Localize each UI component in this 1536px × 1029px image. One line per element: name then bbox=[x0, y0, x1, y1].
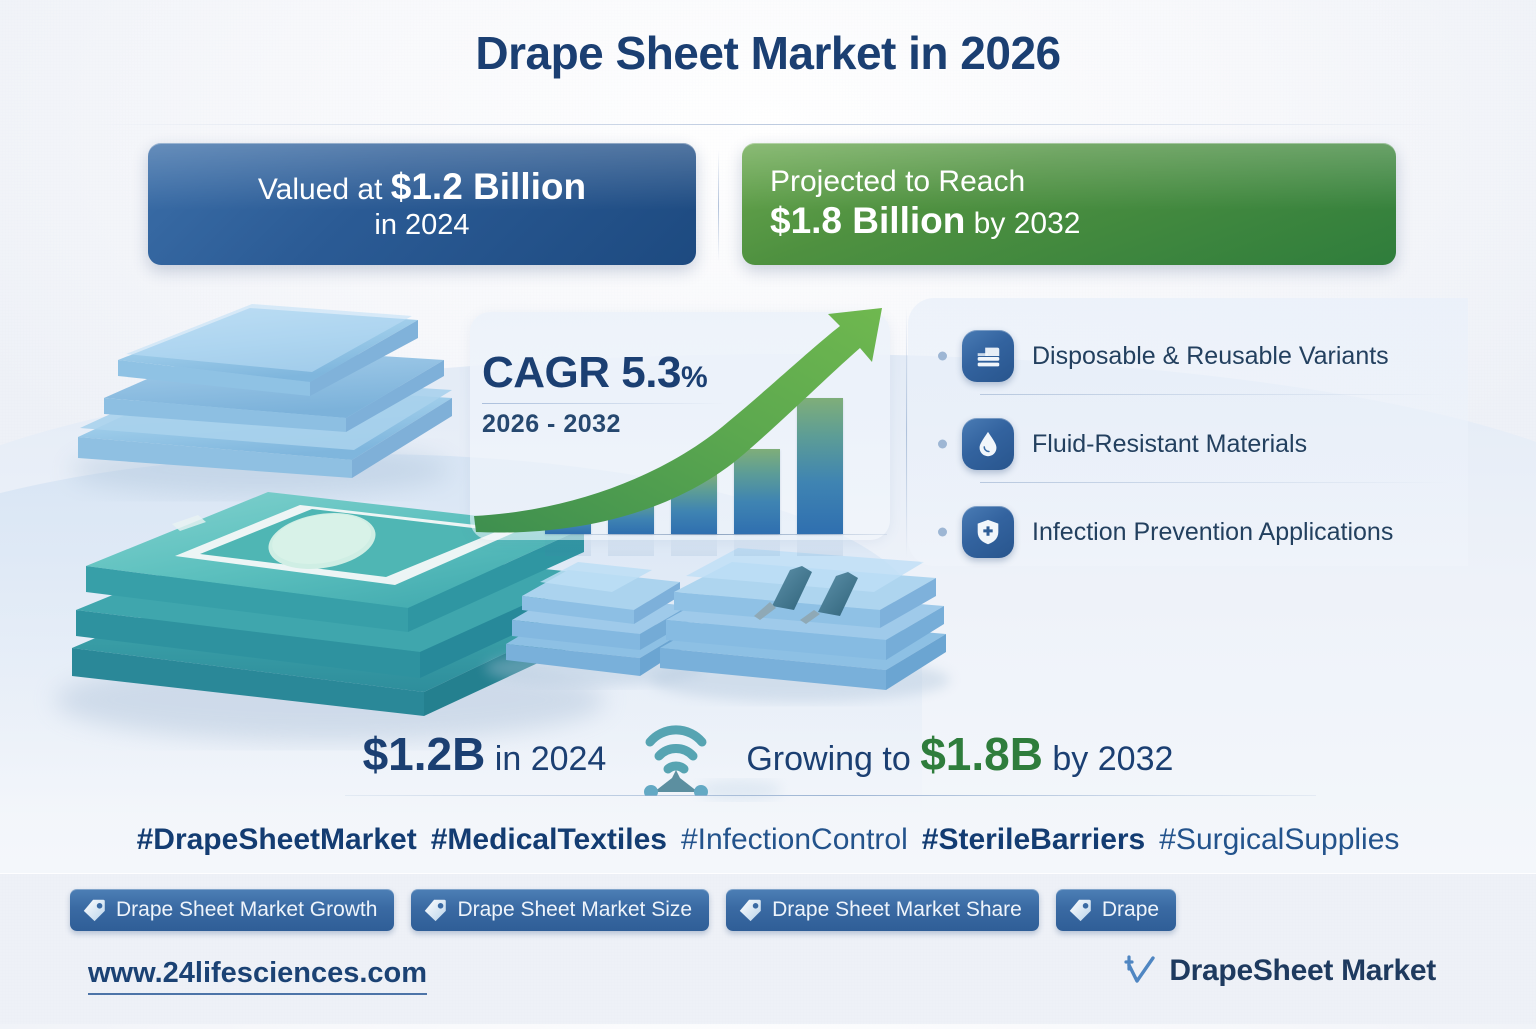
tag-icon bbox=[81, 897, 107, 923]
keyword-pill-label: Drape Sheet Market Share bbox=[772, 898, 1022, 922]
stat-card-projection: Projected to Reach $1.8 Billion by 2032 bbox=[742, 143, 1396, 265]
tag-icon bbox=[422, 897, 448, 923]
keyword-pill-row: Drape Sheet Market GrowthDrape Sheet Mar… bbox=[70, 888, 1470, 932]
growth-summary-row: $1.2B in 2024 Growing to $1.8B by 2032 bbox=[0, 712, 1536, 796]
brand-name: DrapeSheet Market bbox=[1169, 954, 1436, 988]
valuation-headline: Valued at $1.2 Billion bbox=[176, 166, 668, 209]
projection-year: by 2032 bbox=[965, 207, 1080, 240]
hashtag[interactable]: #DrapeSheetMarket bbox=[137, 823, 417, 856]
hashtag[interactable]: #SterileBarriers bbox=[922, 823, 1145, 856]
hashtag[interactable]: #InfectionControl bbox=[681, 823, 908, 856]
hashtag[interactable]: #SurgicalSupplies bbox=[1159, 823, 1399, 856]
valuation-amount: $1.2 Billion bbox=[391, 166, 586, 207]
valuation-year: in 2024 bbox=[176, 209, 668, 243]
keyword-pill[interactable]: Drape Sheet Market Growth bbox=[70, 889, 394, 931]
growth-amount-end: $1.8B bbox=[920, 728, 1043, 780]
card-divider bbox=[718, 150, 719, 262]
feature-item-fluid-resistant[interactable]: Fluid-Resistant Materials bbox=[962, 418, 1462, 470]
keyword-pill-label: Drape Sheet Market Size bbox=[457, 898, 692, 922]
feature-label: Fluid-Resistant Materials bbox=[1032, 430, 1307, 459]
stacked-sheets-icon bbox=[962, 330, 1014, 382]
keyword-pill[interactable]: Drape Sheet Market Share bbox=[726, 889, 1039, 931]
chart-bar bbox=[545, 510, 591, 534]
chart-bar bbox=[608, 493, 654, 534]
feature-item-disposable-reusable[interactable]: Disposable & Reusable Variants bbox=[962, 330, 1462, 382]
feature-label: Disposable & Reusable Variants bbox=[1032, 342, 1389, 371]
feature-divider bbox=[980, 394, 1450, 395]
growth-start-value: $1.2B in 2024 bbox=[363, 727, 607, 781]
chart-bar bbox=[797, 398, 843, 534]
projection-amount: $1.8 Billion bbox=[770, 200, 965, 241]
brand-logo: DrapeSheet Market bbox=[1122, 953, 1436, 989]
features-vertical-divider bbox=[906, 306, 907, 558]
website-url-link[interactable]: www.24lifesciences.com bbox=[88, 957, 427, 995]
header-divider bbox=[90, 124, 1446, 125]
growth-divider bbox=[345, 795, 1316, 796]
stat-card-valuation: Valued at $1.2 Billion in 2024 bbox=[148, 143, 696, 265]
projection-value-row: $1.8 Billion by 2032 bbox=[770, 200, 1368, 243]
feature-label: Infection Prevention Applications bbox=[1032, 518, 1393, 547]
growth-end-value: Growing to $1.8B by 2032 bbox=[746, 727, 1173, 781]
valuation-prefix: Valued at bbox=[258, 173, 391, 206]
growth-bar-chart bbox=[545, 380, 875, 535]
tag-icon bbox=[737, 897, 763, 923]
check-tick-icon bbox=[1122, 953, 1158, 989]
shield-cross-icon bbox=[962, 506, 1014, 558]
feature-bullet-dot bbox=[938, 528, 947, 537]
growth-amount-start: $1.2B bbox=[363, 728, 486, 780]
projection-headline: Projected to Reach bbox=[770, 165, 1368, 200]
keyword-pill-label: Drape Sheet Market Growth bbox=[116, 898, 377, 922]
broadcast-signal-icon bbox=[628, 712, 724, 796]
keyword-pill[interactable]: Drape bbox=[1056, 889, 1176, 931]
tag-icon bbox=[1067, 897, 1093, 923]
feature-divider bbox=[980, 482, 1450, 483]
growth-text-mid: Growing to bbox=[746, 740, 920, 778]
growth-text-end: by 2032 bbox=[1043, 740, 1173, 778]
feature-item-infection-prevention[interactable]: Infection Prevention Applications bbox=[962, 506, 1462, 558]
chart-bar bbox=[734, 449, 780, 534]
page-title: Drape Sheet Market in 2026 bbox=[0, 26, 1536, 80]
hashtag-row: #DrapeSheetMarket#MedicalTextiles#Infect… bbox=[0, 823, 1536, 857]
growth-text-start: in 2024 bbox=[485, 740, 606, 778]
hashtag[interactable]: #MedicalTextiles bbox=[431, 823, 667, 856]
feature-bullet-dot bbox=[938, 440, 947, 449]
water-droplet-icon bbox=[962, 418, 1014, 470]
chart-bar bbox=[671, 474, 717, 534]
feature-bullet-dot bbox=[938, 352, 947, 361]
keyword-pill-label: Drape bbox=[1102, 898, 1159, 922]
keyword-pill[interactable]: Drape Sheet Market Size bbox=[411, 889, 709, 931]
